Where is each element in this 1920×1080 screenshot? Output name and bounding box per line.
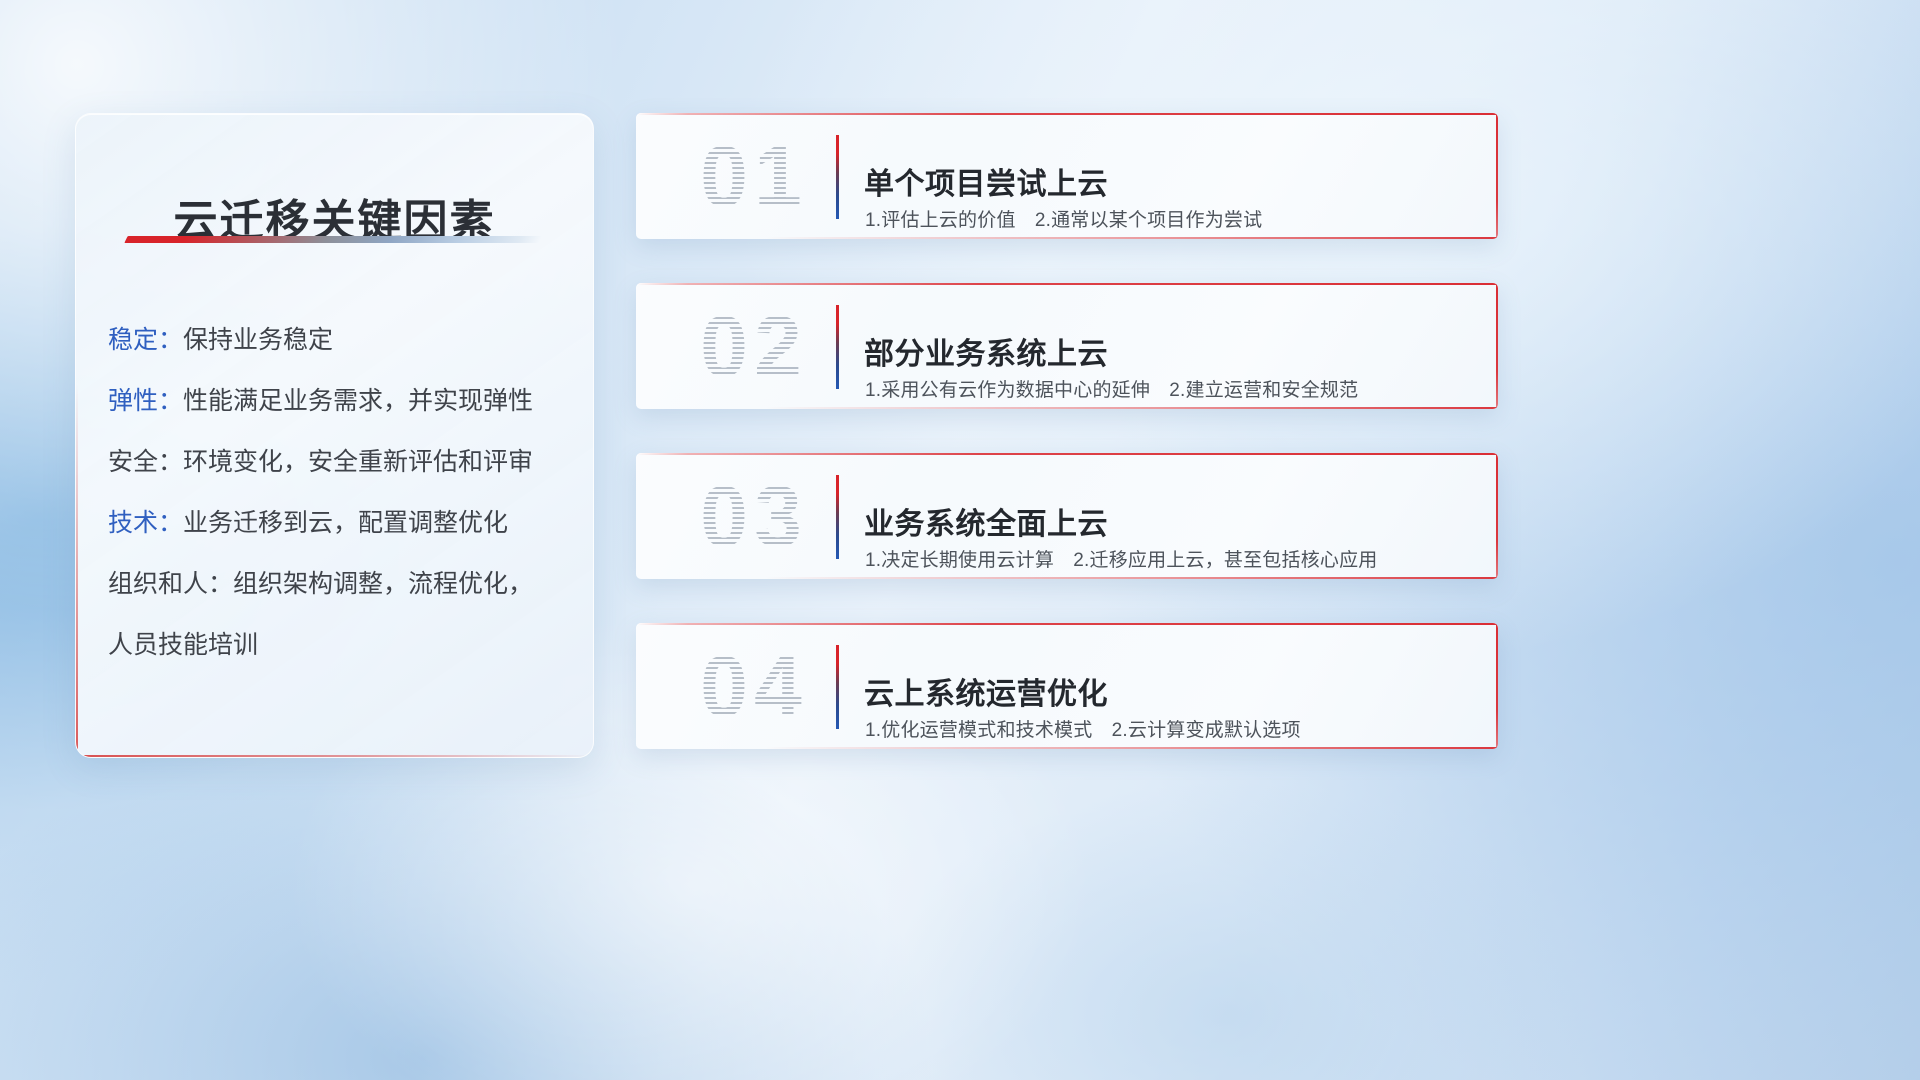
key-factors-panel: 云迁移关键因素 稳定：保持业务稳定 弹性：性能满足业务需求，并实现弹性 安全：环… bbox=[75, 113, 594, 758]
stage-number: 02 bbox=[664, 297, 844, 397]
card-top-accent bbox=[636, 453, 1498, 455]
stage-divider bbox=[836, 475, 839, 559]
list-item: 安全：环境变化，安全重新评估和评审 bbox=[108, 432, 569, 493]
card-right-accent bbox=[1496, 453, 1498, 579]
factor-label: 技术： bbox=[108, 509, 183, 537]
stage-description: 1.评估上云的价值 2.通常以某个项目作为尝试 bbox=[865, 205, 1262, 232]
card-top-accent bbox=[636, 283, 1498, 285]
stage-title: 部分业务系统上云 bbox=[864, 329, 1108, 373]
stage-description: 1.采用公有云作为数据中心的延伸 2.建立运营和安全规范 bbox=[865, 375, 1358, 402]
factor-label: 组织和人： bbox=[108, 570, 233, 598]
stage-title: 业务系统全面上云 bbox=[864, 499, 1108, 543]
stage-description: 1.决定长期使用云计算 2.迁移应用上云，甚至包括核心应用 bbox=[865, 545, 1378, 572]
card-top-accent bbox=[636, 623, 1498, 625]
stage-card[interactable]: 02 部分业务系统上云 1.采用公有云作为数据中心的延伸 2.建立运营和安全规范 bbox=[636, 283, 1498, 409]
factor-label: 弹性： bbox=[108, 387, 183, 415]
card-right-accent bbox=[1496, 283, 1498, 409]
card-right-accent bbox=[1496, 623, 1498, 749]
factor-label: 稳定： bbox=[108, 326, 183, 354]
stage-card[interactable]: 01 单个项目尝试上云 1.评估上云的价值 2.通常以某个项目作为尝试 bbox=[636, 113, 1498, 239]
list-item: 稳定：保持业务稳定 bbox=[108, 310, 569, 371]
panel-bottom-accent bbox=[76, 755, 593, 757]
stage-card[interactable]: 04 云上系统运营优化 1.优化运营模式和技术模式 2.云计算变成默认选项 bbox=[636, 623, 1498, 749]
card-bottom-accent bbox=[636, 407, 1498, 409]
card-top-accent bbox=[636, 113, 1498, 115]
factor-text: 性能满足业务需求，并实现弹性 bbox=[183, 387, 533, 415]
factor-text: 环境变化，安全重新评估和评审 bbox=[183, 448, 533, 476]
migration-stages-list: 01 单个项目尝试上云 1.评估上云的价值 2.通常以某个项目作为尝试 02 部… bbox=[636, 113, 1498, 793]
stage-description: 1.优化运营模式和技术模式 2.云计算变成默认选项 bbox=[865, 715, 1301, 742]
factor-text-continuation: 人员技能培训 bbox=[108, 615, 569, 676]
card-bottom-accent bbox=[636, 577, 1498, 579]
card-bottom-accent bbox=[636, 747, 1498, 749]
stage-number: 04 bbox=[664, 637, 844, 737]
card-bottom-accent bbox=[636, 237, 1498, 239]
list-item: 技术：业务迁移到云，配置调整优化 bbox=[108, 493, 569, 554]
list-item: 组织和人：组织架构调整，流程优化， bbox=[108, 554, 569, 615]
stage-card[interactable]: 03 业务系统全面上云 1.决定长期使用云计算 2.迁移应用上云，甚至包括核心应… bbox=[636, 453, 1498, 579]
stage-number: 03 bbox=[664, 467, 844, 567]
stage-title: 单个项目尝试上云 bbox=[864, 159, 1108, 203]
factor-label: 安全： bbox=[108, 448, 183, 476]
card-right-accent bbox=[1496, 113, 1498, 239]
stage-title: 云上系统运营优化 bbox=[864, 669, 1108, 713]
factor-text: 业务迁移到云，配置调整优化 bbox=[183, 509, 508, 537]
key-factors-list: 稳定：保持业务稳定 弹性：性能满足业务需求，并实现弹性 安全：环境变化，安全重新… bbox=[108, 310, 569, 676]
stage-divider bbox=[836, 135, 839, 219]
title-underline-gradient bbox=[124, 236, 542, 243]
factor-text: 保持业务稳定 bbox=[183, 326, 333, 354]
stage-divider bbox=[836, 645, 839, 729]
list-item: 弹性：性能满足业务需求，并实现弹性 bbox=[108, 371, 569, 432]
stage-number: 01 bbox=[664, 127, 844, 227]
factor-text: 组织架构调整，流程优化， bbox=[233, 570, 533, 598]
stage-divider bbox=[836, 305, 839, 389]
